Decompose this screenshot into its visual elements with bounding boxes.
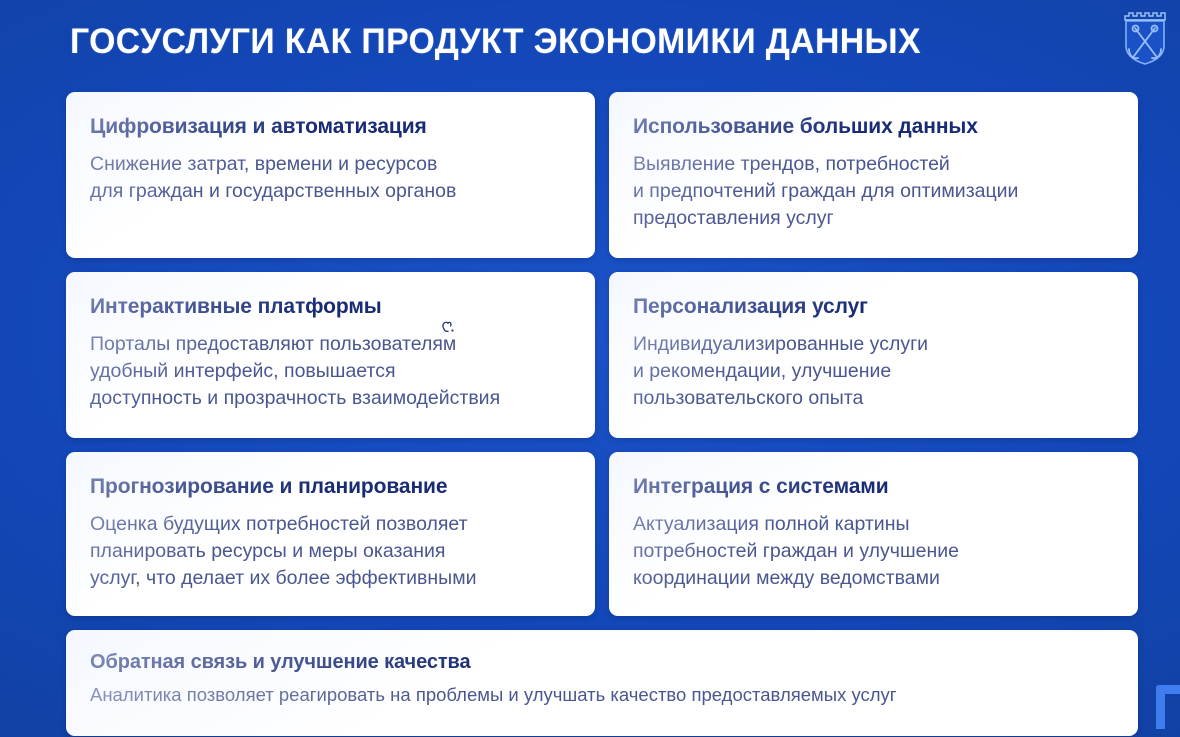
- card-body: Оценка будущих потребностей позволяет пл…: [90, 511, 571, 592]
- decorative-corner-shape: [1150, 673, 1180, 737]
- card-title: Персонализация услуг: [633, 294, 1114, 320]
- leningrad-oblast-coat-of-arms-icon: [1120, 8, 1170, 66]
- card-title: Использование больших данных: [633, 114, 1114, 140]
- slide-header: ГОСУСЛУГИ КАК ПРОДУКТ ЭКОНОМИКИ ДАННЫХ: [0, 0, 1180, 86]
- page-title: ГОСУСЛУГИ КАК ПРОДУКТ ЭКОНОМИКИ ДАННЫХ: [70, 21, 921, 63]
- card-title: Обратная связь и улучшение качества: [90, 650, 1114, 674]
- card-digitalization[interactable]: Цифровизация и автоматизация Снижение за…: [66, 92, 595, 258]
- card-body: Выявление трендов, потребностей и предпо…: [633, 151, 1114, 232]
- card-title: Интерактивные платформы: [90, 294, 571, 320]
- card-title: Интеграция с системами: [633, 474, 1114, 500]
- slide-canvas: ГОСУСЛУГИ КАК ПРОДУКТ ЭКОНОМИКИ ДАННЫХ: [0, 0, 1180, 737]
- card-grid: Цифровизация и автоматизация Снижение за…: [66, 92, 1138, 737]
- card-big-data[interactable]: Использование больших данных Выявление т…: [609, 92, 1138, 258]
- card-row-2: Интерактивные платформы Порталы предоста…: [66, 272, 1138, 438]
- card-personalization[interactable]: Персонализация услуг Индивидуализированн…: [609, 272, 1138, 438]
- card-body: Порталы предоставляют пользователям удоб…: [90, 331, 571, 412]
- card-body: Аналитика позволяет реагировать на пробл…: [90, 683, 1114, 707]
- card-feedback-quality[interactable]: Обратная связь и улучшение качества Анал…: [66, 630, 1138, 736]
- card-body: Снижение затрат, времени и ресурсов для …: [90, 151, 571, 205]
- card-title: Цифровизация и автоматизация: [90, 114, 571, 140]
- card-forecasting[interactable]: Прогнозирование и планирование Оценка бу…: [66, 452, 595, 616]
- card-system-integration[interactable]: Интеграция с системами Актуализация полн…: [609, 452, 1138, 616]
- card-row-1: Цифровизация и автоматизация Снижение за…: [66, 92, 1138, 258]
- card-row-4: Обратная связь и улучшение качества Анал…: [66, 630, 1138, 736]
- card-title: Прогнозирование и планирование: [90, 474, 571, 500]
- card-body: Индивидуализированные услуги и рекоменда…: [633, 331, 1114, 412]
- card-row-3: Прогнозирование и планирование Оценка бу…: [66, 452, 1138, 616]
- card-interactive-platforms[interactable]: Интерактивные платформы Порталы предоста…: [66, 272, 595, 438]
- card-body: Актуализация полной картины потребностей…: [633, 511, 1114, 592]
